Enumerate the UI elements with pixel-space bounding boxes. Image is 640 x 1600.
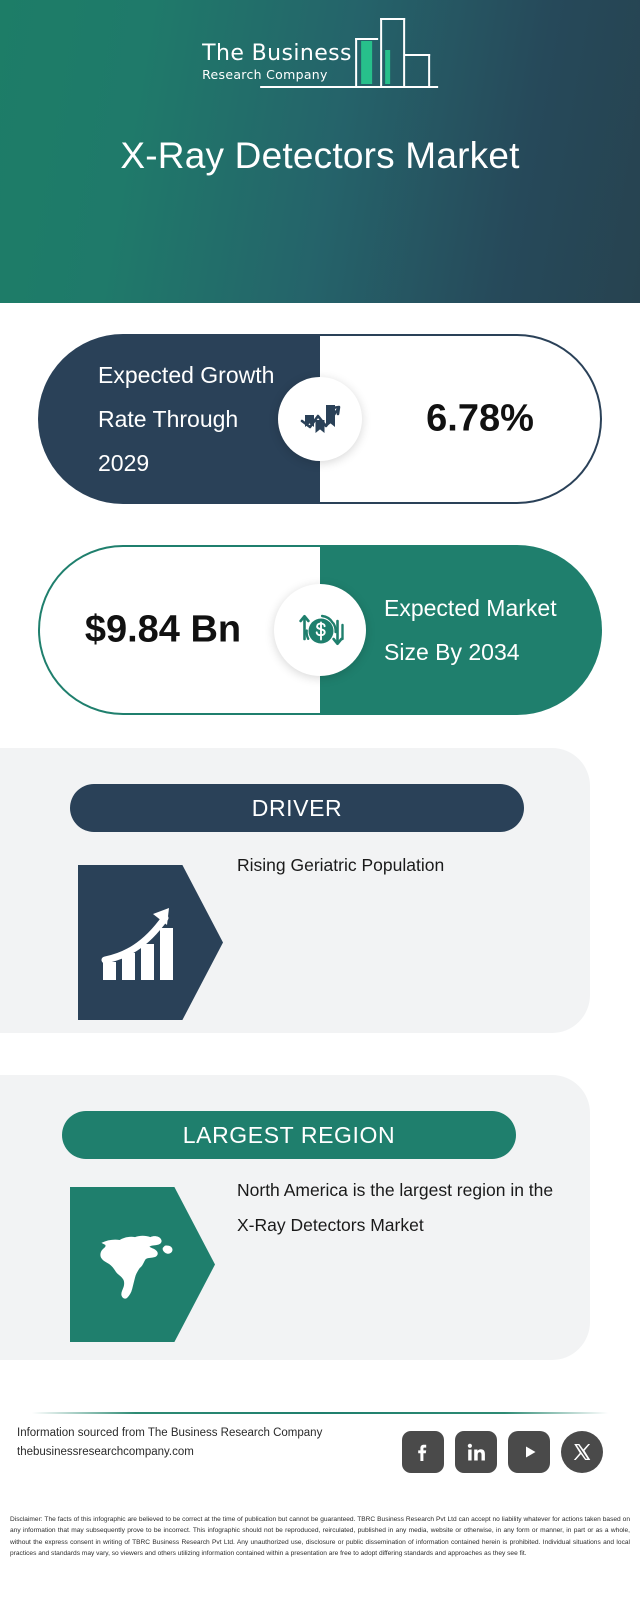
source-line-2: thebusinessresearchcompany.com <box>17 1443 322 1462</box>
stat-growth-rate: Expected Growth Rate Through 2029 6.78% <box>38 334 602 504</box>
source-info: Information sourced from The Business Re… <box>17 1424 322 1462</box>
logo-wordmark: The Business Research Company <box>202 42 352 88</box>
footer-divider <box>32 1412 608 1414</box>
dollar-cycle-icon <box>274 584 366 676</box>
driver-banner: DRIVER <box>70 784 524 832</box>
region-banner-label: LARGEST REGION <box>183 1122 395 1149</box>
largest-region-card: LARGEST REGION North America is the larg… <box>0 1075 590 1360</box>
driver-card: DRIVER Rising Geriatric Population <box>0 748 590 1033</box>
social-links <box>402 1431 603 1473</box>
stat-market-size: $9.84 Bn Expected Market Size By 2034 <box>38 545 602 715</box>
north-america-map-icon <box>70 1187 215 1342</box>
source-line-1: Information sourced from The Business Re… <box>17 1424 322 1443</box>
linkedin-icon[interactable] <box>455 1431 497 1473</box>
x-twitter-icon[interactable] <box>561 1431 603 1473</box>
header-banner: The Business Research Company X-Ray Dete… <box>0 0 640 303</box>
growth-value-panel: 6.78% <box>320 334 602 504</box>
region-text: North America is the largest region in t… <box>237 1173 567 1243</box>
logo-line-1: The Business <box>202 42 352 66</box>
region-banner: LARGEST REGION <box>62 1111 516 1159</box>
page-title: X-Ray Detectors Market <box>0 135 640 177</box>
driver-text: Rising Geriatric Population <box>237 848 567 883</box>
facebook-icon[interactable] <box>402 1431 444 1473</box>
infographic-page: The Business Research Company X-Ray Dete… <box>0 0 640 1600</box>
bar-chart-growth-icon <box>278 377 362 461</box>
driver-banner-label: DRIVER <box>252 795 343 822</box>
growth-rate-value: 6.78% <box>320 398 600 441</box>
logo-line-2: Research Company <box>202 67 328 82</box>
logo-bar-chart-icon <box>348 18 438 88</box>
company-logo: The Business Research Company <box>202 18 438 88</box>
disclaimer-text: Disclaimer: The facts of this infographi… <box>10 1514 630 1559</box>
growth-chart-arrow-icon <box>78 865 223 1020</box>
youtube-icon[interactable] <box>508 1431 550 1473</box>
